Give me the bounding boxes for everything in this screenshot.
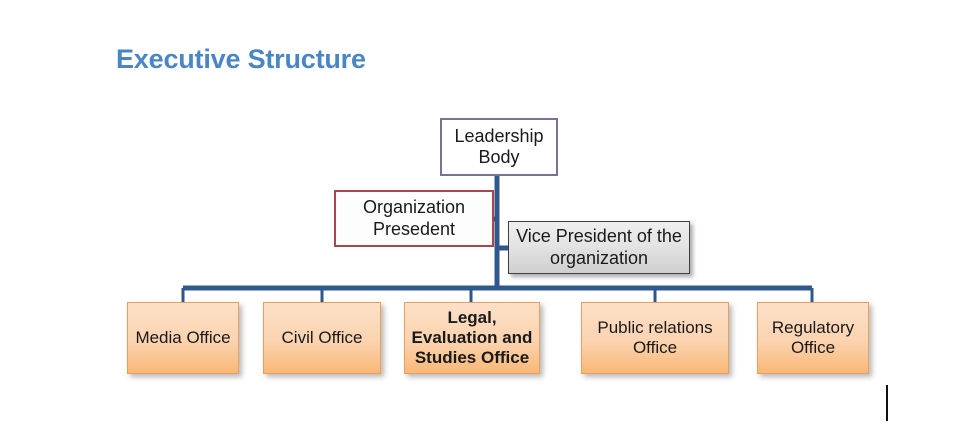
node-label: Leadership Body bbox=[442, 126, 556, 168]
text-cursor-artifact bbox=[886, 385, 888, 421]
node-regulatory-office[interactable]: Regulatory Office bbox=[757, 302, 869, 374]
node-label: Public relations Office bbox=[582, 318, 728, 358]
node-public-relations-office[interactable]: Public relations Office bbox=[581, 302, 729, 374]
node-label: Organization Presedent bbox=[336, 197, 492, 239]
node-label: Regulatory Office bbox=[758, 318, 868, 358]
node-label: Media Office bbox=[128, 328, 238, 348]
slide-canvas: Executive Structure Leadership Body Orga… bbox=[0, 0, 970, 446]
node-leadership-body[interactable]: Leadership Body bbox=[440, 118, 558, 176]
node-media-office[interactable]: Media Office bbox=[127, 302, 239, 374]
node-vice-president[interactable]: Vice President of the organization bbox=[508, 221, 690, 274]
node-label: Civil Office bbox=[264, 328, 380, 348]
node-legal-evaluation-studies-office[interactable]: Legal, Evaluation and Studies Office bbox=[404, 302, 540, 374]
node-organization-president[interactable]: Organization Presedent bbox=[334, 190, 494, 247]
node-civil-office[interactable]: Civil Office bbox=[263, 302, 381, 374]
node-label: Legal, Evaluation and Studies Office bbox=[405, 308, 539, 368]
node-label: Vice President of the organization bbox=[509, 226, 689, 268]
